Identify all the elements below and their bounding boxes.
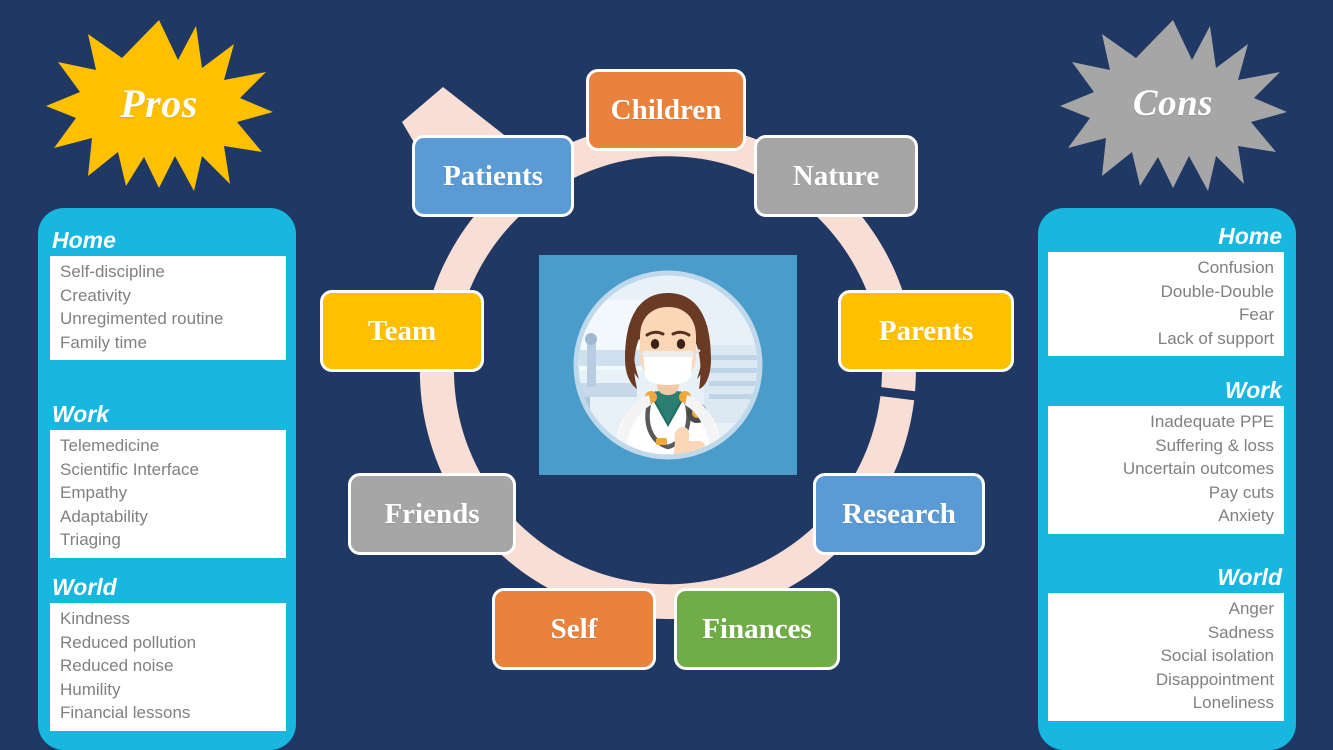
group-item-box: Telemedicine Scientific Interface Empath…	[50, 430, 286, 558]
list-item: Adaptability	[60, 505, 276, 529]
cycle-node-finances[interactable]: Finances	[674, 588, 840, 670]
list-item: Humility	[60, 678, 276, 702]
list-item: Self-discipline	[60, 260, 276, 284]
cons-group-work: Work Inadequate PPE Suffering & loss Unc…	[1038, 376, 1296, 534]
list-item: Social isolation	[1058, 644, 1274, 668]
pros-group-work: Work Telemedicine Scientific Interface E…	[38, 400, 296, 558]
group-item-box: Kindness Reduced pollution Reduced noise…	[50, 603, 286, 731]
group-item-box: Self-discipline Creativity Unregimented …	[50, 256, 286, 360]
list-item: Anxiety	[1058, 504, 1274, 528]
cycle-node-patients[interactable]: Patients	[412, 135, 574, 217]
list-item: Anger	[1058, 597, 1274, 621]
group-item-box: Inadequate PPE Suffering & loss Uncertai…	[1048, 406, 1284, 534]
list-item: Uncertain outcomes	[1058, 457, 1274, 481]
node-label: Friends	[384, 498, 479, 531]
pros-label: Pros	[120, 80, 198, 127]
node-label: Children	[611, 94, 722, 127]
list-item: Sadness	[1058, 621, 1274, 645]
pros-starburst-badge: Pros	[44, 16, 274, 191]
list-item: Reduced noise	[60, 654, 276, 678]
list-item: Double-Double	[1058, 280, 1274, 304]
group-item-box: Confusion Double-Double Fear Lack of sup…	[1048, 252, 1284, 356]
node-label: Patients	[443, 160, 543, 193]
cycle-node-nature[interactable]: Nature	[754, 135, 918, 217]
group-title: Home	[1038, 222, 1296, 250]
list-item: Confusion	[1058, 256, 1274, 280]
group-title: Home	[38, 226, 296, 254]
node-label: Nature	[793, 160, 879, 193]
list-item: Reduced pollution	[60, 631, 276, 655]
group-title: World	[1038, 563, 1296, 591]
group-item-box: Anger Sadness Social isolation Disappoin…	[1048, 593, 1284, 721]
cycle-node-friends[interactable]: Friends	[348, 473, 516, 555]
list-item: Family time	[60, 331, 276, 355]
list-item: Unregimented routine	[60, 307, 276, 331]
list-item: Disappointment	[1058, 668, 1274, 692]
list-item: Pay cuts	[1058, 481, 1274, 505]
cycle-node-research[interactable]: Research	[813, 473, 985, 555]
list-item: Financial lessons	[60, 701, 276, 725]
list-item: Inadequate PPE	[1058, 410, 1274, 434]
slide-canvas: Pros Cons Home Self-discipline Creativit…	[0, 0, 1333, 750]
list-item: Loneliness	[1058, 691, 1274, 715]
cycle-node-parents[interactable]: Parents	[838, 290, 1014, 372]
list-item: Telemedicine	[60, 434, 276, 458]
node-label: Self	[551, 613, 598, 646]
list-item: Lack of support	[1058, 327, 1274, 351]
node-label: Research	[842, 498, 956, 531]
cycle-node-team[interactable]: Team	[320, 290, 484, 372]
cons-group-home: Home Confusion Double-Double Fear Lack o…	[1038, 222, 1296, 356]
list-item: Creativity	[60, 284, 276, 308]
list-item: Triaging	[60, 528, 276, 552]
doctor-illustration-icon	[539, 255, 797, 475]
list-item: Scientific Interface	[60, 458, 276, 482]
doctor-illustration	[539, 255, 797, 475]
group-title: World	[38, 573, 296, 601]
cons-starburst-badge: Cons	[1058, 16, 1288, 191]
list-item: Suffering & loss	[1058, 434, 1274, 458]
group-title: Work	[38, 400, 296, 428]
list-item: Kindness	[60, 607, 276, 631]
pros-group-home: Home Self-discipline Creativity Unregime…	[38, 226, 296, 360]
cycle-node-children[interactable]: Children	[586, 69, 746, 151]
cons-panel: Home Confusion Double-Double Fear Lack o…	[1038, 208, 1296, 750]
cycle-diagram: Children Nature Parents Research Finance…	[340, 60, 1000, 700]
node-label: Finances	[702, 613, 812, 646]
cons-label: Cons	[1133, 82, 1213, 125]
node-label: Team	[368, 315, 436, 348]
cons-group-world: World Anger Sadness Social isolation Dis…	[1038, 563, 1296, 721]
list-item: Empathy	[60, 481, 276, 505]
cycle-node-self[interactable]: Self	[492, 588, 656, 670]
group-title: Work	[1038, 376, 1296, 404]
list-item: Fear	[1058, 303, 1274, 327]
node-label: Parents	[879, 315, 974, 348]
pros-panel: Home Self-discipline Creativity Unregime…	[38, 208, 296, 750]
pros-group-world: World Kindness Reduced pollution Reduced…	[38, 573, 296, 731]
